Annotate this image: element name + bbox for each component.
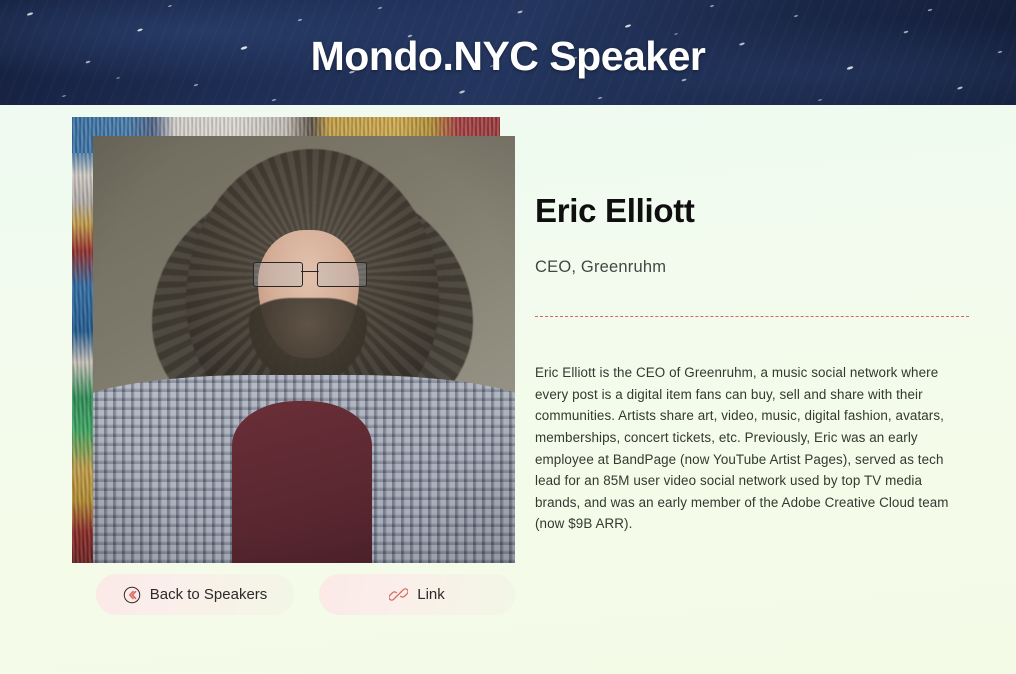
speaker-name: Eric Elliott: [535, 105, 971, 229]
link-label: Link: [417, 586, 445, 603]
page-header-banner: Mondo.NYC Speaker: [0, 0, 1016, 105]
speaker-role: CEO, Greenruhm: [535, 229, 971, 277]
speaker-detail-section: Eric Elliott CEO, Greenruhm Eric Elliott…: [0, 105, 1016, 674]
back-to-speakers-label: Back to Speakers: [150, 586, 268, 603]
back-to-speakers-button[interactable]: Back to Speakers: [96, 574, 294, 615]
chain-link-icon: [389, 585, 408, 604]
action-button-row: Back to Speakers Link: [96, 574, 515, 615]
speaker-info-column: Eric Elliott CEO, Greenruhm Eric Elliott…: [535, 105, 971, 535]
double-chevron-left-circle-icon: [123, 586, 141, 604]
page-title: Mondo.NYC Speaker: [0, 33, 1016, 80]
photo-vignette: [93, 136, 515, 563]
speaker-bio: Eric Elliott is the CEO of Greenruhm, a …: [535, 317, 969, 535]
link-button[interactable]: Link: [319, 574, 515, 615]
speaker-photo: [93, 136, 515, 563]
